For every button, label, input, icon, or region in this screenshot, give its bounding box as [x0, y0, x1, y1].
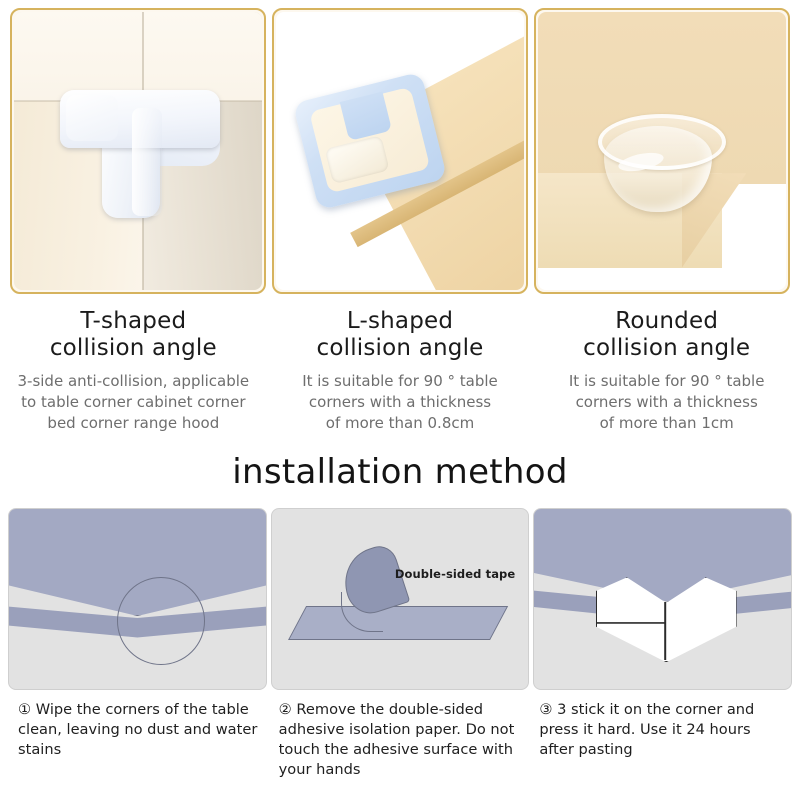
- product-description: 3-side anti-collision, applicable to tab…: [8, 371, 259, 434]
- installation-illustration-row: Double-sided tape: [8, 508, 792, 690]
- installation-step-caption-1: ① Wipe the corners of the table clean, l…: [8, 700, 271, 796]
- product-caption-t-shaped: T-shaped collision angle 3-side anti-col…: [0, 300, 267, 450]
- installation-step-caption-row: ① Wipe the corners of the table clean, l…: [8, 700, 792, 796]
- table-top-surface: [533, 508, 792, 602]
- rounded-guard-rim: [598, 114, 726, 170]
- product-photo-t-shaped: [14, 12, 262, 290]
- product-photo-l-shaped: [276, 12, 524, 290]
- installation-illustration-step-3: [533, 508, 792, 690]
- product-photo-row: [0, 0, 800, 300]
- installation-illustration-step-2: Double-sided tape: [271, 508, 530, 690]
- product-title: L-shaped collision angle: [275, 308, 526, 362]
- product-infographic: T-shaped collision angle 3-side anti-col…: [0, 0, 800, 800]
- rounded-guard: [594, 108, 722, 214]
- corner-highlight-circle: [117, 577, 205, 665]
- product-card-t-shaped: [10, 8, 266, 294]
- product-title: T-shaped collision angle: [8, 308, 259, 362]
- t-guard-highlight: [132, 108, 162, 216]
- product-caption-rounded: Rounded collision angle It is suitable f…: [533, 300, 800, 450]
- product-description: It is suitable for 90 ° table corners wi…: [541, 371, 792, 434]
- wall-top-surface: [14, 12, 262, 101]
- tape-strip: [288, 606, 508, 640]
- product-card-rounded: [534, 8, 790, 294]
- product-caption-l-shaped: L-shaped collision angle It is suitable …: [267, 300, 534, 450]
- installation-step-caption-2: ② Remove the double-sided adhesive isola…: [275, 700, 532, 796]
- product-title: Rounded collision angle: [541, 308, 792, 362]
- installation-step-caption-3: ③ 3 stick it on the corner and press it …: [535, 700, 792, 796]
- product-card-l-shaped: [272, 8, 528, 294]
- product-caption-row: T-shaped collision angle 3-side anti-col…: [0, 300, 800, 450]
- product-photo-rounded: [538, 12, 786, 290]
- product-description: It is suitable for 90 ° table corners wi…: [275, 371, 526, 434]
- installation-method-heading: installation method: [0, 452, 800, 492]
- installation-illustration-step-1: [8, 508, 267, 690]
- tape-label: Double-sided tape: [395, 567, 515, 581]
